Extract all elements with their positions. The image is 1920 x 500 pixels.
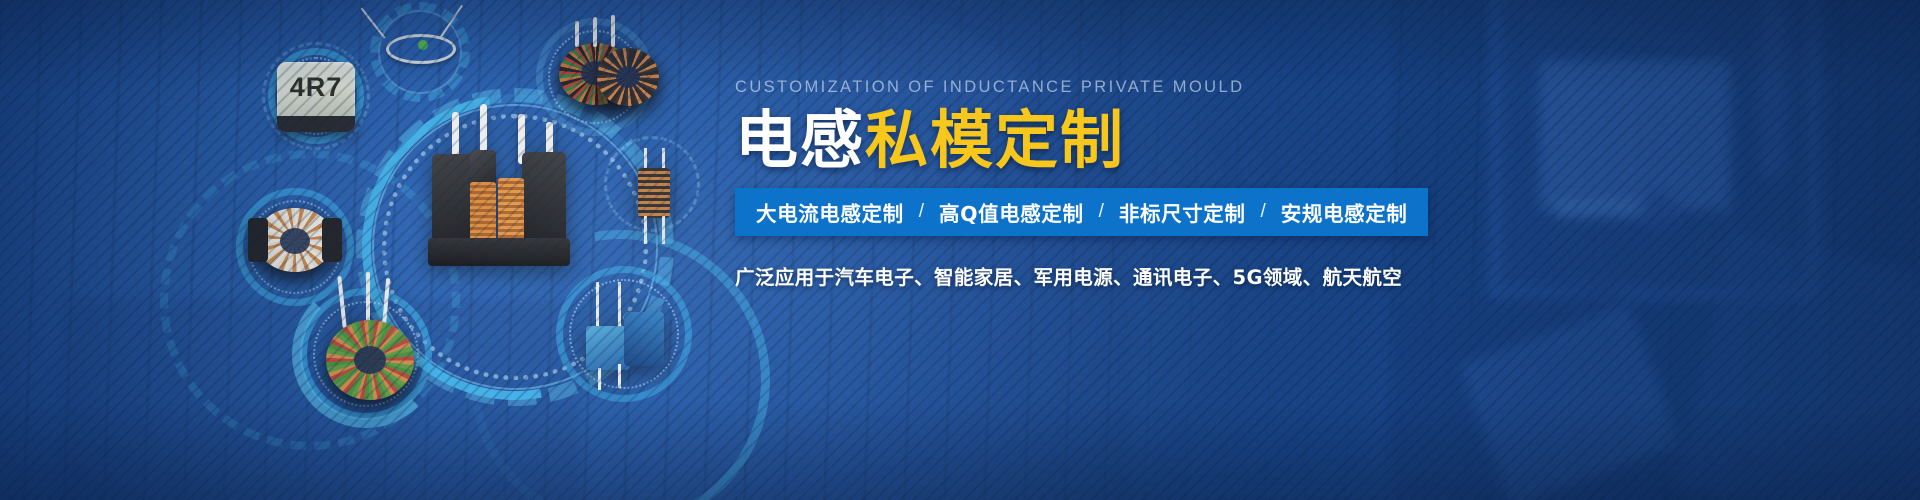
service-item-1[interactable]: 高Q值电感定制 <box>939 197 1084 227</box>
service-item-2[interactable]: 非标尺寸定制 <box>1119 197 1246 227</box>
banner-tagline: 广泛应用于汽车电子、智能家居、军用电源、通讯电子、5G领域、航天航空 <box>735 261 1385 290</box>
banner-main-title: 电感私模定制 <box>735 109 1385 173</box>
inductor-customization-banner: 4R7 <box>0 0 1920 500</box>
title-part-gold: 私模定制 <box>865 104 1125 177</box>
service-list-bar: 大电流电感定制 / 高Q值电感定制 / 非标尺寸定制 / 安规电感定制 <box>735 188 1428 236</box>
service-separator-0: / <box>918 201 925 223</box>
title-part-white: 电感 <box>735 104 865 177</box>
banner-eyebrow-english: CUSTOMIZATION OF INDUCTANCE PRIVATE MOUL… <box>735 78 1385 97</box>
service-separator-1: / <box>1098 201 1105 223</box>
service-item-0[interactable]: 大电流电感定制 <box>756 197 904 227</box>
service-separator-2: / <box>1260 201 1267 223</box>
service-item-3[interactable]: 安规电感定制 <box>1281 197 1408 227</box>
banner-text-content: CUSTOMIZATION OF INDUCTANCE PRIVATE MOUL… <box>735 78 1385 290</box>
